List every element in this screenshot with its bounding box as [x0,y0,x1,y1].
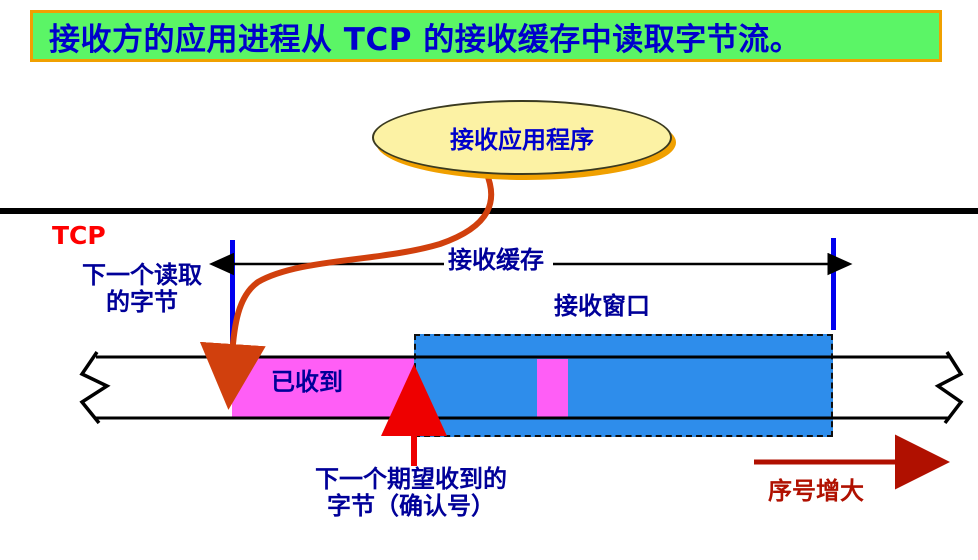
next-expected-line1: 下一个期望收到的 [276,466,546,493]
receive-window-label: 接收窗口 [554,293,650,320]
buffer-right-boundary-marker [831,238,836,330]
receiving-application-callout: 接收应用程序 [372,100,672,175]
tcp-label: TCP [52,222,106,250]
slide-canvas: 接收方的应用进程从 TCP 的接收缓存中读取字节流。 接收应用程序 TCP 下一… [0,0,978,560]
next-byte-to-read-line1: 下一个读取 [56,262,228,289]
slide-title-banner: 接收方的应用进程从 TCP 的接收缓存中读取字节流。 [30,10,942,62]
sequence-increases-label: 序号增大 [768,478,864,505]
next-expected-line2: 字节（确认号） [276,493,546,520]
receive-window-block [414,334,833,437]
next-expected-byte-label: 下一个期望收到的 字节（确认号） [276,466,546,520]
next-byte-to-read-label: 下一个读取 的字节 [56,262,228,316]
next-byte-to-read-line2: 的字节 [56,289,228,316]
page-title: 接收方的应用进程从 TCP 的接收缓存中读取字节流。 [33,14,801,59]
received-block-label: 已收到 [271,369,343,396]
stream-break-left-icon [82,352,107,423]
buffer-left-boundary-marker [230,240,235,368]
received-out-of-order-block [537,359,568,417]
callout-label: 接收应用程序 [450,120,594,155]
receive-buffer-label: 接收缓存 [442,247,550,274]
stream-break-right-icon [938,352,961,423]
